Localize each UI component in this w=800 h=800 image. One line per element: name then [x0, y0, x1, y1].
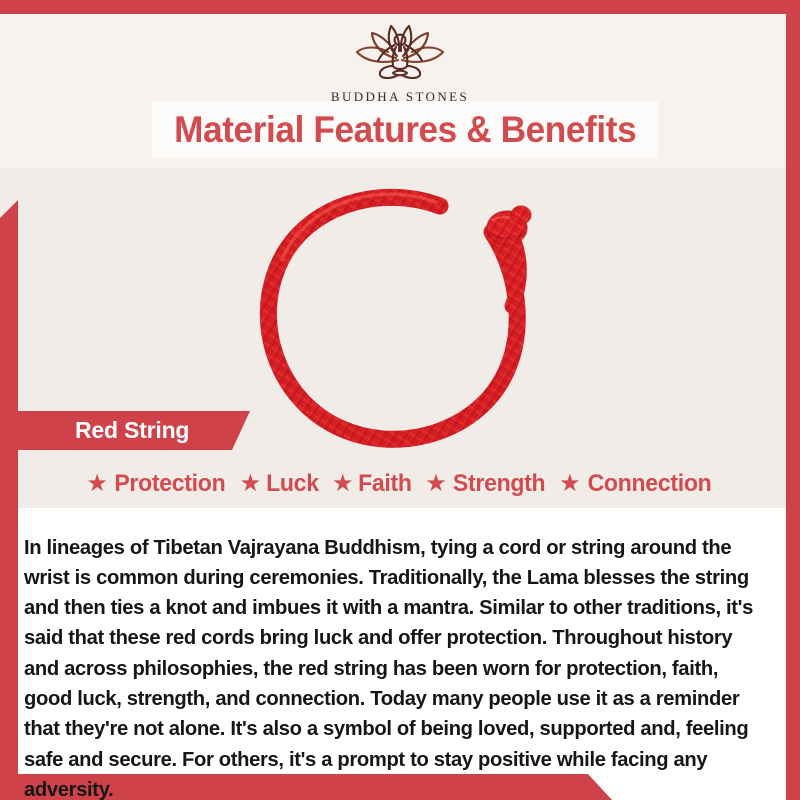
feature-item-luck: ★ Luck: [240, 470, 320, 498]
feature-item-connection: ★ Connection: [559, 470, 714, 498]
feature-label: Strength: [453, 470, 545, 498]
feature-item-faith: ★ Faith: [332, 470, 413, 498]
title-box: Material Features & Benefits: [152, 101, 658, 158]
infographic-canvas: BUDDHA STONES Material Features & Benefi…: [0, 0, 800, 800]
brand-logo: BUDDHA STONES: [0, 16, 800, 105]
material-ribbon: Red String: [18, 411, 250, 450]
top-red-band: [0, 0, 800, 14]
material-name: Red String: [18, 417, 189, 444]
star-icon: ★: [332, 472, 354, 496]
left-red-band: [0, 200, 18, 800]
star-icon: ★: [559, 472, 581, 496]
feature-item-strength: ★ Strength: [425, 470, 547, 498]
feature-label: Protection: [114, 470, 225, 498]
right-red-band: [786, 0, 800, 800]
page-title: Material Features & Benefits: [174, 109, 636, 151]
feature-label: Luck: [266, 470, 319, 498]
feature-list: ★ Protection ★ Luck ★ Faith ★ Strength ★…: [18, 464, 782, 504]
star-icon: ★: [86, 472, 108, 496]
description-paragraph: In lineages of Tibetan Vajrayana Buddhis…: [24, 533, 765, 800]
star-icon: ★: [425, 472, 447, 496]
feature-label: Faith: [359, 470, 413, 498]
product-image-red-string-bracelet: [230, 160, 570, 465]
star-icon: ★: [240, 472, 262, 496]
lotus-meditation-figure-icon: [340, 16, 460, 86]
feature-item-protection: ★ Protection: [86, 470, 227, 498]
feature-label: Connection: [587, 470, 711, 498]
